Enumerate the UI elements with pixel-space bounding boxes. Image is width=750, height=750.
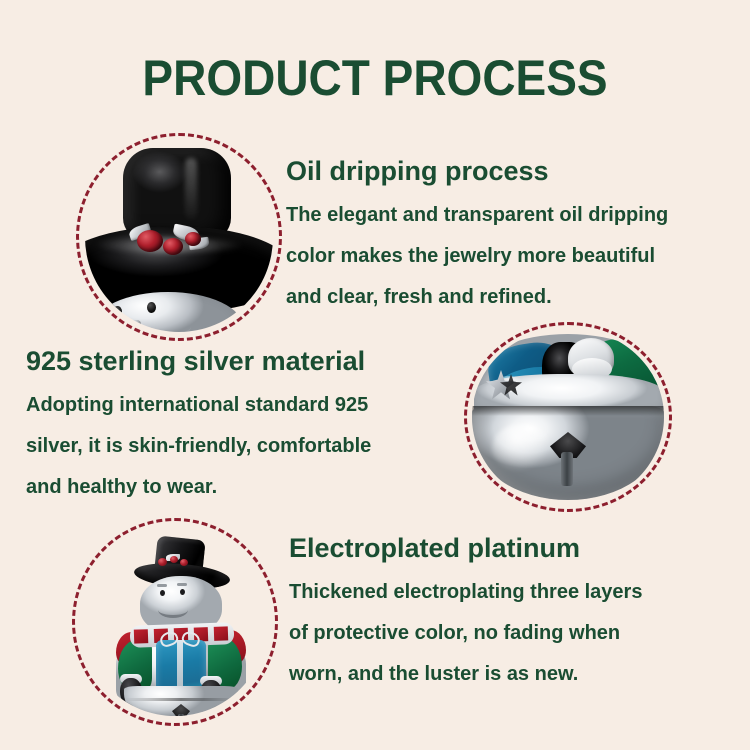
red-berry-icon [137, 230, 163, 252]
body-oil-dripping: The elegant and transparent oil dripping… [286, 195, 748, 318]
photo-snowman-bell-charm-full [82, 528, 268, 716]
body-line: and clear, fresh and refined. [286, 277, 748, 318]
photo-snowman-top-hat-macro [85, 142, 273, 332]
snowman-eye-icon [147, 302, 156, 313]
body-electroplated-platinum: Thickened electroplating three layers of… [289, 572, 749, 695]
snowman-brow [177, 583, 187, 586]
product-process-infographic: PRODUCT PROCESS Oil drip [0, 0, 750, 750]
body-line: worn, and the luster is as new. [289, 654, 749, 695]
snowman-brow [157, 584, 167, 587]
snowman-nose-shape [119, 320, 141, 332]
page-title: PRODUCT PROCESS [30, 52, 720, 105]
scarf-square [214, 626, 228, 640]
body-line: Adopting international standard 925 [26, 385, 466, 426]
red-berry-icon [163, 238, 183, 255]
photo-silver-bell-charm-enamel [472, 328, 664, 506]
bell-keyhole-stem [178, 714, 184, 716]
body-sterling-silver: Adopting international standard 925 silv… [26, 385, 466, 508]
text-block-oil-dripping: Oil dripping process The elegant and tra… [286, 155, 748, 318]
text-block-electroplated-platinum: Electroplated platinum Thickened electro… [289, 532, 749, 695]
snowman-eye-icon [160, 590, 165, 596]
red-berry-icon [180, 559, 188, 566]
image-circle-oil-dripping [76, 133, 282, 341]
body-line: Thickened electroplating three layers [289, 572, 749, 613]
scarf-square [134, 629, 148, 643]
bell-gloss-highlight [492, 424, 552, 472]
red-berry-icon [185, 232, 201, 246]
body-line: The elegant and transparent oil dripping [286, 195, 748, 236]
text-block-sterling-silver: 925 sterling silver material Adopting in… [26, 345, 466, 508]
snowman-eye-icon [180, 589, 185, 595]
body-line: of protective color, no fading when [289, 613, 749, 654]
body-line: color makes the jewelry more beautiful [286, 236, 748, 277]
heading-electroplated-platinum: Electroplated platinum [289, 532, 749, 564]
snowman-smile-shape [151, 318, 191, 332]
body-line: silver, it is skin-friendly, comfortable [26, 426, 466, 467]
body-line: and healthy to wear. [26, 467, 466, 508]
red-berry-icon [170, 556, 178, 563]
red-berry-icon [158, 558, 167, 566]
image-circle-sterling-silver [464, 322, 672, 512]
snowman-smile-shape [158, 602, 188, 618]
heading-oil-dripping: Oil dripping process [286, 155, 748, 187]
snowman-eye-icon [113, 306, 122, 317]
bell-keyhole-stem [561, 452, 573, 486]
image-circle-electroplated-platinum [72, 518, 278, 726]
bell-seam-line [126, 698, 236, 701]
heading-sterling-silver: 925 sterling silver material [26, 345, 466, 377]
